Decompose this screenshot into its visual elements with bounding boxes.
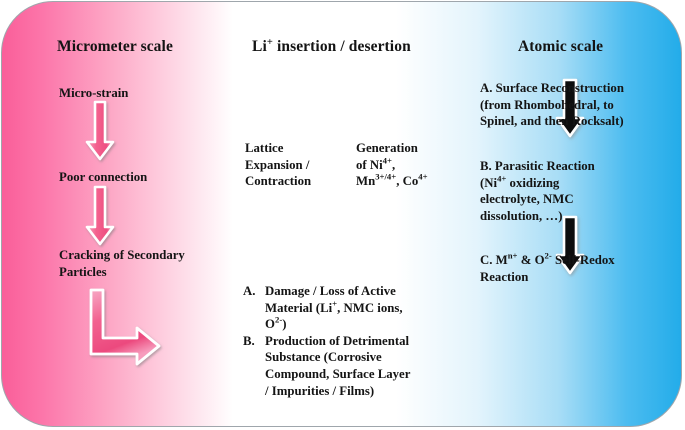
- generation-line2-superscript: 4+: [383, 155, 392, 165]
- middle-heading-suffix: insertion / desertion: [273, 38, 411, 55]
- middle-effect-lattice: Lattice Expansion / Contraction: [245, 140, 341, 190]
- right-c-superscript-2: 2-: [545, 251, 552, 261]
- outcome-a-line3-prefix: O: [265, 317, 275, 331]
- right-c-line1-mid: & O: [518, 253, 545, 267]
- outcome-a-line3-suffix: ): [282, 317, 286, 331]
- right-a-line2: (from Rhombohedral, to: [480, 98, 614, 112]
- right-c-line1-prefix: C. M: [480, 253, 508, 267]
- pink-bent-arrow-down-right-icon: [87, 290, 165, 370]
- right-a-line3: Spinel, and then Rocksalt): [480, 114, 624, 128]
- outcome-a-marker: A.: [243, 283, 265, 300]
- column-atomic-scale: Atomic scale A. Surface Reconstruction (…: [456, 2, 682, 426]
- right-column-heading: Atomic scale: [518, 38, 603, 56]
- left-step-poor-connection: Poor connection: [59, 169, 147, 186]
- outcome-a-line1: Damage / Loss of Active: [265, 284, 396, 298]
- outcome-b-line4: / Impurities / Films): [265, 384, 374, 398]
- pink-down-arrow-icon: [85, 187, 115, 245]
- right-b-line2-prefix: (Ni: [480, 176, 497, 190]
- generation-line3-co: , Co: [396, 174, 418, 188]
- outcome-b-line1: Production of Detrimental: [265, 334, 409, 348]
- right-b-line1: B. Parasitic Reaction: [480, 159, 595, 173]
- right-c-line2: Reaction: [480, 270, 528, 284]
- generation-line3-mn-superscript: 3+/4+: [375, 172, 396, 182]
- right-item-parasitic-reaction: B. Parasitic Reaction (Ni4+ oxidizing el…: [480, 158, 630, 224]
- list-item: A. Damage / Loss of ActiveMaterial (Li+,…: [243, 283, 455, 333]
- outcome-b-body: Production of DetrimentalSubstance (Corr…: [265, 333, 455, 399]
- gradient-panel: Micrometer scale Micro-strain: [1, 1, 682, 427]
- middle-effect-generation: Generation of Ni4+, Mn3+/4+, Co4+: [356, 140, 464, 190]
- pink-down-arrow-icon: [85, 102, 115, 160]
- right-b-line3: electrolyte, NMC: [480, 192, 574, 206]
- left-column-heading: Micrometer scale: [57, 38, 173, 56]
- outcome-b-line2: Substance (Corrosive: [265, 350, 382, 364]
- right-c-superscript-1: n+: [508, 251, 518, 261]
- generation-line3-co-superscript: 4+: [418, 172, 427, 182]
- right-b-line2-suffix: oxidizing: [506, 176, 559, 190]
- right-b-line4: dissolution, …): [480, 209, 563, 223]
- list-item: B. Production of DetrimentalSubstance (C…: [243, 333, 455, 399]
- column-micrometer-scale: Micrometer scale Micro-strain: [2, 2, 234, 426]
- left-step-cracking: Cracking of Secondary Particles: [59, 247, 219, 280]
- middle-heading-prefix: Li: [252, 38, 267, 55]
- outcome-a-line2-suffix: , NMC ions,: [337, 301, 402, 315]
- outcome-b-line3: Compound, Surface Layer: [265, 367, 410, 381]
- right-b-line2-superscript: 4+: [497, 173, 506, 183]
- right-item-surface-reconstruction: A. Surface Reconstruction (from Rhombohe…: [480, 80, 680, 130]
- right-item-self-redox-reaction: C. Mn+ & O2- Self-Redox Reaction: [480, 252, 665, 285]
- generation-line3-mn: Mn: [356, 174, 375, 188]
- outcome-b-marker: B.: [243, 333, 265, 350]
- middle-column-heading: Li+ insertion / desertion: [252, 38, 411, 56]
- generation-line2-prefix: of Ni: [356, 158, 383, 172]
- left-step-micro-strain: Micro-strain: [59, 85, 128, 102]
- right-a-line1: A. Surface Reconstruction: [480, 81, 624, 95]
- outcome-a-line2-prefix: Material (Li: [265, 301, 332, 315]
- middle-outcomes-list: A. Damage / Loss of ActiveMaterial (Li+,…: [243, 283, 455, 399]
- generation-line1: Generation: [356, 141, 418, 155]
- column-li-insertion: Li+ insertion / desertion Lattice Expans…: [234, 2, 456, 426]
- generation-line2-suffix: ,: [392, 158, 395, 172]
- right-c-line1-suffix: Self-Redox: [552, 253, 615, 267]
- degradation-mechanism-diagram: Micrometer scale Micro-strain: [0, 0, 685, 430]
- outcome-a-body: Damage / Loss of ActiveMaterial (Li+, NM…: [265, 283, 455, 333]
